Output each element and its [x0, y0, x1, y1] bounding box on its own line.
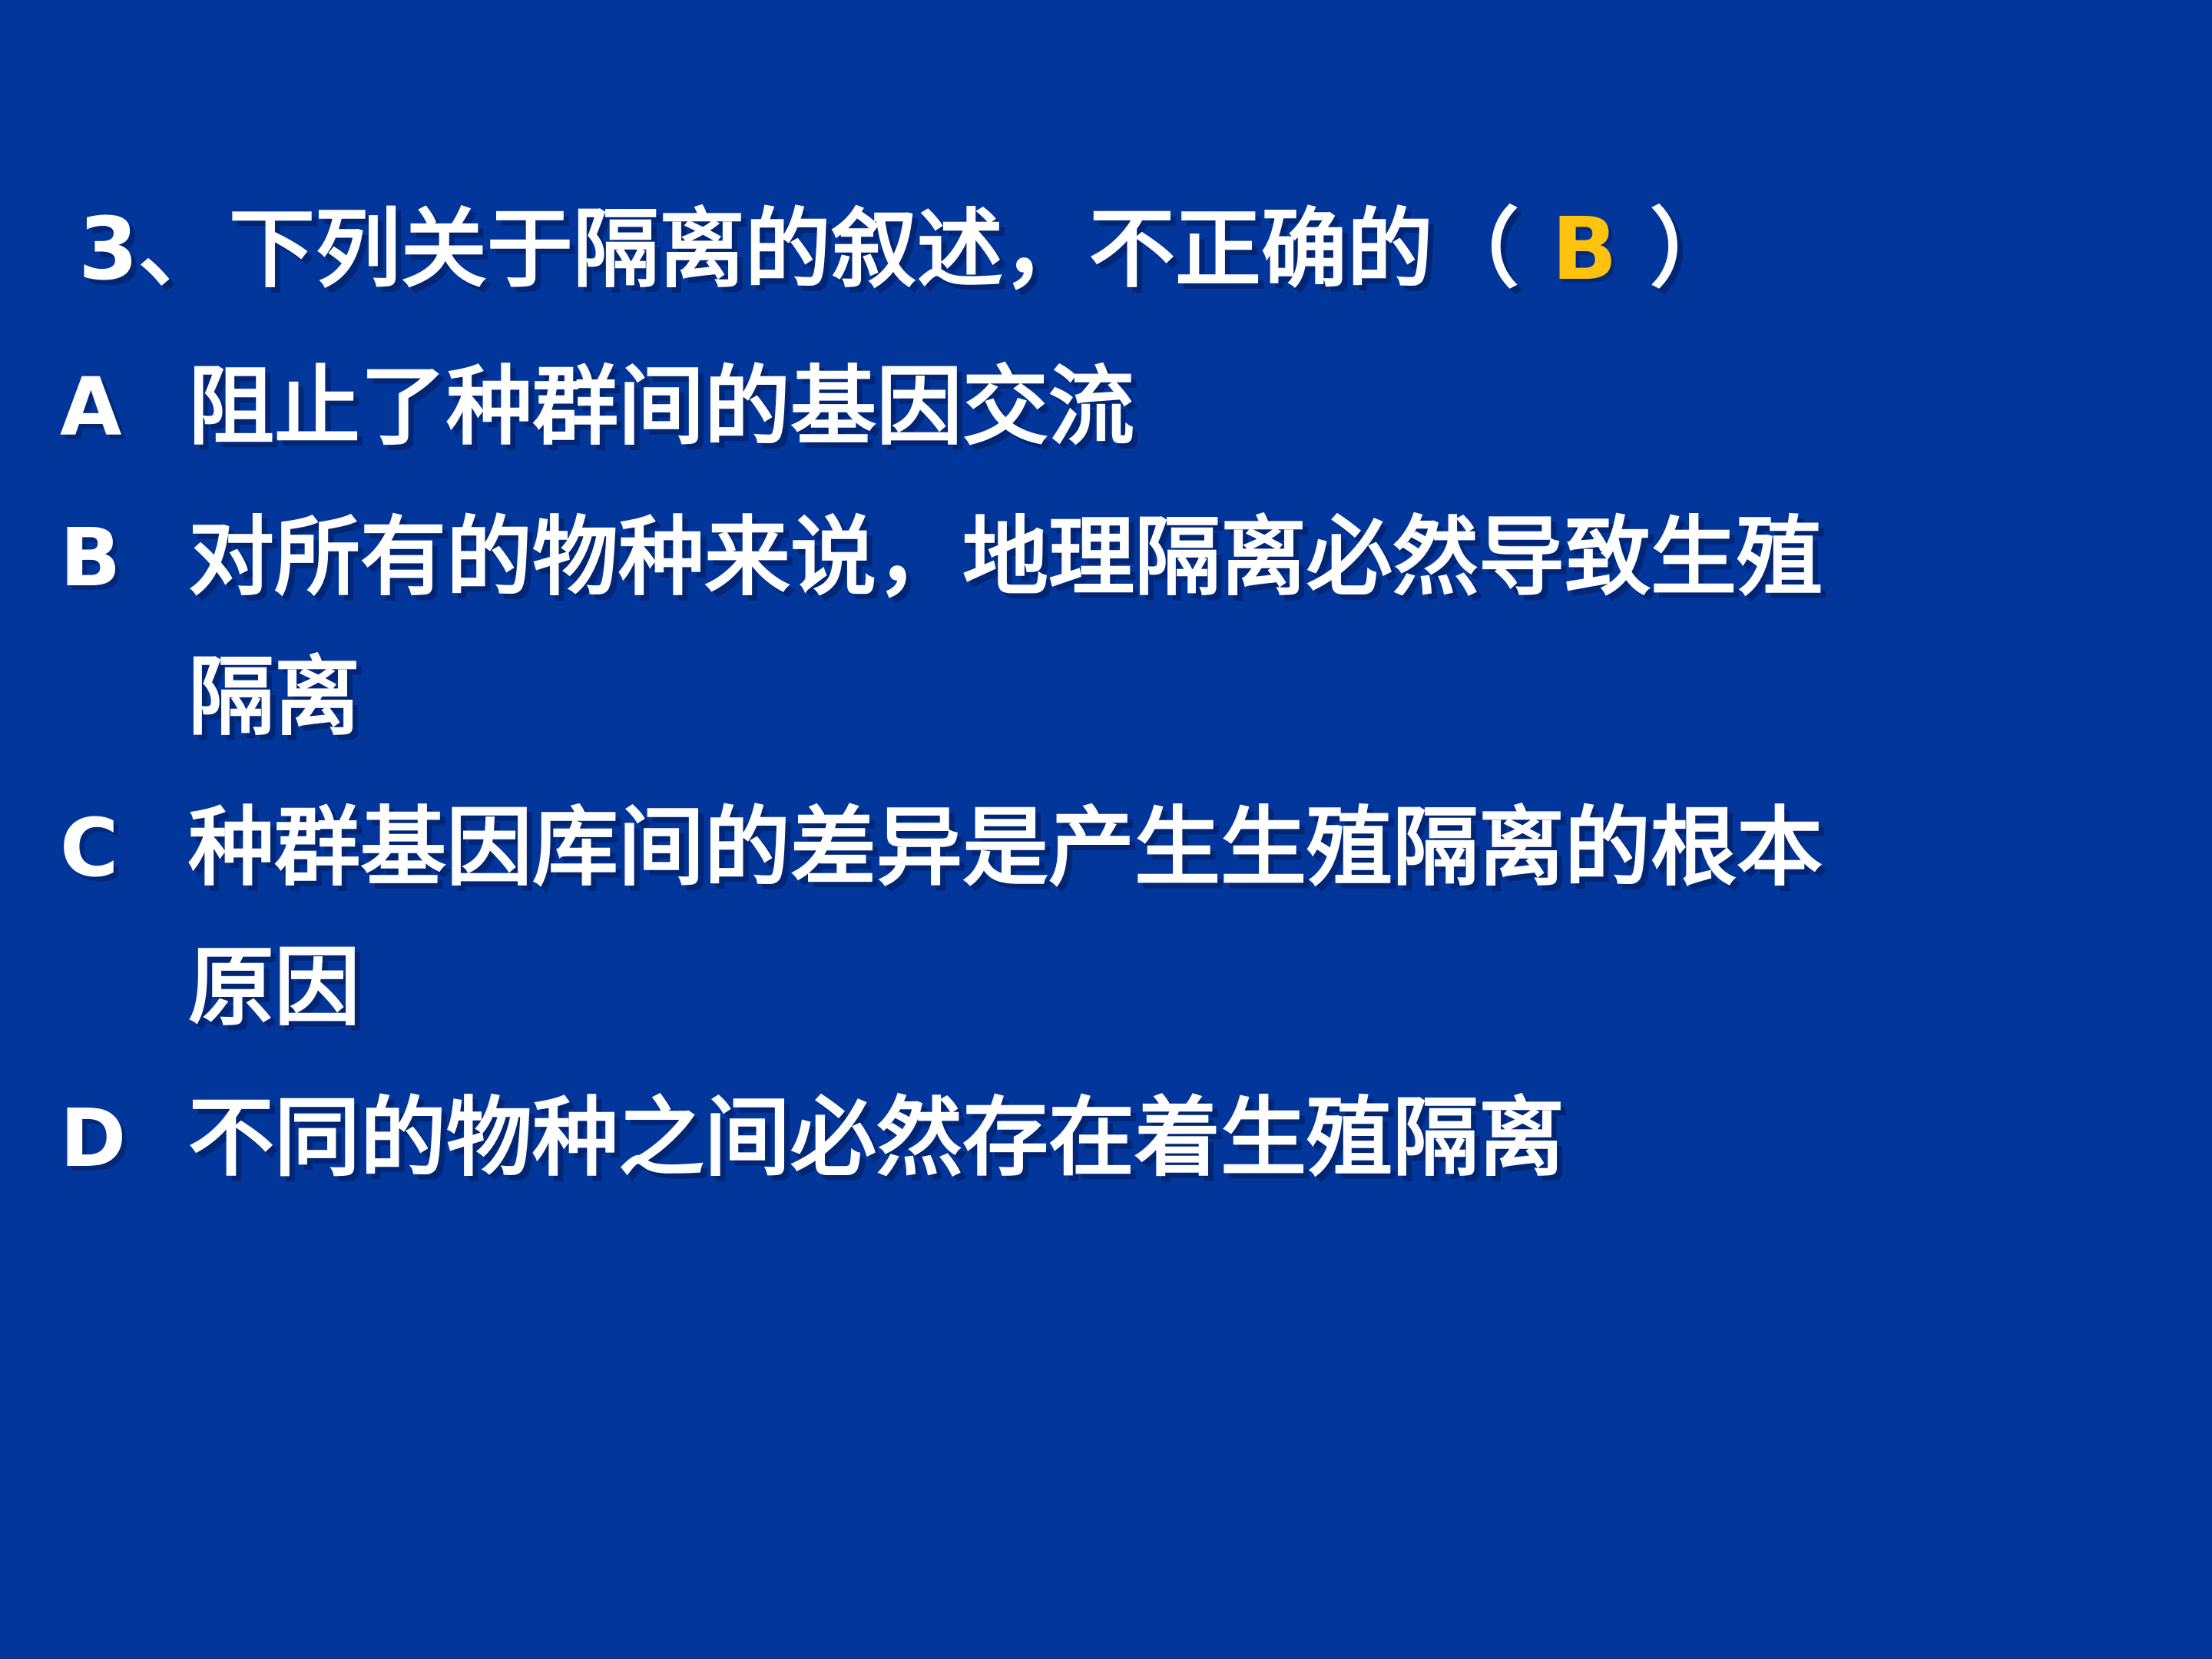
option-letter-a: A	[31, 349, 188, 465]
slide-canvas: 3、 下列关于隔离的叙述，不正确的（ B ） A 阻止了种群间的基因交流 B 对…	[0, 0, 2212, 1659]
option-row-c: C 种群基因库间的差异是产生生殖隔离的根本 原因	[31, 790, 2181, 1045]
option-body-c: 种群基因库间的差异是产生生殖隔离的根本 原因	[188, 790, 2181, 1045]
answer-letter: B	[1519, 192, 1650, 307]
question-stem: 下列关于隔离的叙述，不正确的（	[229, 192, 1519, 307]
option-body-a: 阻止了种群间的基因交流	[188, 349, 2181, 465]
option-row-b: B 对所有的物种来说，地理隔离必然导致生殖 隔离	[31, 500, 2181, 755]
option-text-b-line-1: 对所有的物种来说，地理隔离必然导致生殖	[188, 500, 2181, 615]
option-body-d: 不同的物种之间必然存在着生殖隔离	[188, 1081, 2181, 1196]
question-number: 3、	[78, 192, 224, 307]
option-text-b-line-2: 隔离	[188, 640, 2181, 755]
option-letter-c: C	[31, 790, 188, 906]
question-close-paren: ）	[1650, 192, 1736, 307]
option-text-c-line-1: 种群基因库间的差异是产生生殖隔离的根本	[188, 790, 2181, 906]
option-row-d: D 不同的物种之间必然存在着生殖隔离	[31, 1081, 2181, 1196]
option-text-a-line-1: 阻止了种群间的基因交流	[188, 349, 2181, 465]
option-text-d-line-1: 不同的物种之间必然存在着生殖隔离	[188, 1081, 2181, 1196]
option-row-a: A 阻止了种群间的基因交流	[31, 349, 2181, 465]
option-letter-b: B	[31, 500, 188, 615]
option-text-c-line-2: 原因	[188, 930, 2181, 1045]
question-line: 3、 下列关于隔离的叙述，不正确的（ B ）	[31, 192, 2181, 307]
option-body-b: 对所有的物种来说，地理隔离必然导致生殖 隔离	[188, 500, 2181, 755]
option-letter-d: D	[31, 1081, 188, 1196]
